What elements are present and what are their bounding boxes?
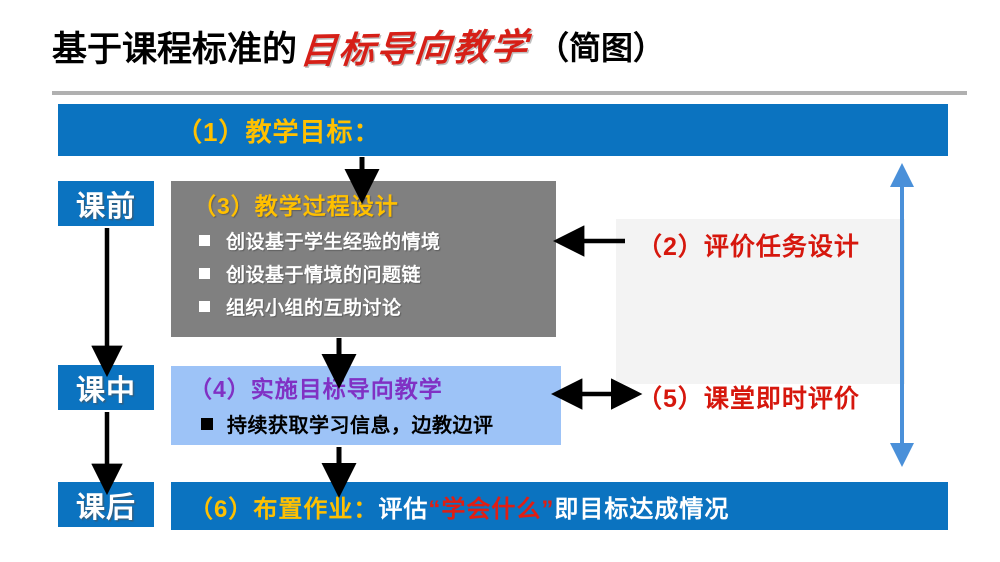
list-item: 持续获取学习信息，边教边评 bbox=[201, 409, 561, 438]
homework-bar[interactable]: （6）布置作业： 评估 “学会什么” 即目标达成情况 bbox=[171, 482, 948, 530]
implementation-box[interactable]: （4）实施目标导向教学 持续获取学习信息，边教边评 bbox=[171, 366, 561, 445]
process-design-heading: （3）教学过程设计 bbox=[193, 187, 556, 221]
page-title: 基于课程标准的 目标导向教学 （简图） bbox=[52, 18, 952, 74]
square-bullet-icon bbox=[201, 418, 213, 430]
stage-label-mid-class[interactable]: 课中 bbox=[58, 365, 154, 410]
list-item-label: 创设基于情境的问题链 bbox=[226, 260, 421, 287]
list-item-label: 持续获取学习信息，边教边评 bbox=[227, 409, 494, 438]
stage-label-post-class[interactable]: 课后 bbox=[58, 482, 154, 527]
slide-canvas: 基于课程标准的 目标导向教学 （简图） （1）教学目标： 课前 课中 课后 （3… bbox=[0, 0, 1000, 562]
homework-quoted-text: “学会什么” bbox=[428, 489, 554, 524]
list-item-label: 组织小组的互助讨论 bbox=[226, 293, 402, 320]
process-design-bullet-list: 创设基于学生经验的情境 创设基于情境的问题链 组织小组的互助讨论 bbox=[171, 227, 556, 320]
homework-evaluate-text: 评估 bbox=[378, 489, 428, 524]
stage-label-post-text: 课后 bbox=[76, 484, 136, 526]
stage-label-mid-text: 课中 bbox=[76, 367, 136, 409]
goal-bar-label: （1）教学目标： bbox=[176, 112, 380, 149]
title-highlight-text: 目标导向教学 bbox=[295, 18, 536, 75]
list-item: 创设基于学生经验的情境 bbox=[199, 227, 556, 254]
assessment-design-label: （2）评价任务设计 bbox=[637, 227, 860, 263]
instant-evaluation-label: （5）课堂即时评价 bbox=[637, 379, 860, 415]
title-tail-text: （简图） bbox=[533, 23, 665, 69]
list-item: 创设基于情境的问题链 bbox=[199, 260, 556, 287]
title-divider bbox=[52, 91, 967, 95]
square-bullet-icon bbox=[199, 235, 210, 246]
homework-prefix-text: （6）布置作业： bbox=[189, 489, 378, 524]
square-bullet-icon bbox=[199, 301, 210, 312]
implementation-heading: （4）实施目标导向教学 bbox=[189, 370, 561, 404]
stage-label-pre-text: 课前 bbox=[76, 183, 136, 225]
process-design-box[interactable]: （3）教学过程设计 创设基于学生经验的情境 创设基于情境的问题链 组织小组的互助… bbox=[171, 181, 556, 337]
stage-label-pre-class[interactable]: 课前 bbox=[58, 181, 154, 226]
square-bullet-icon bbox=[199, 268, 210, 279]
homework-suffix-text: 即目标达成情况 bbox=[554, 489, 729, 524]
goal-bar[interactable]: （1）教学目标： bbox=[58, 104, 948, 156]
list-item: 组织小组的互助讨论 bbox=[199, 293, 556, 320]
list-item-label: 创设基于学生经验的情境 bbox=[226, 227, 441, 254]
title-lead-text: 基于课程标准的 bbox=[52, 21, 297, 72]
